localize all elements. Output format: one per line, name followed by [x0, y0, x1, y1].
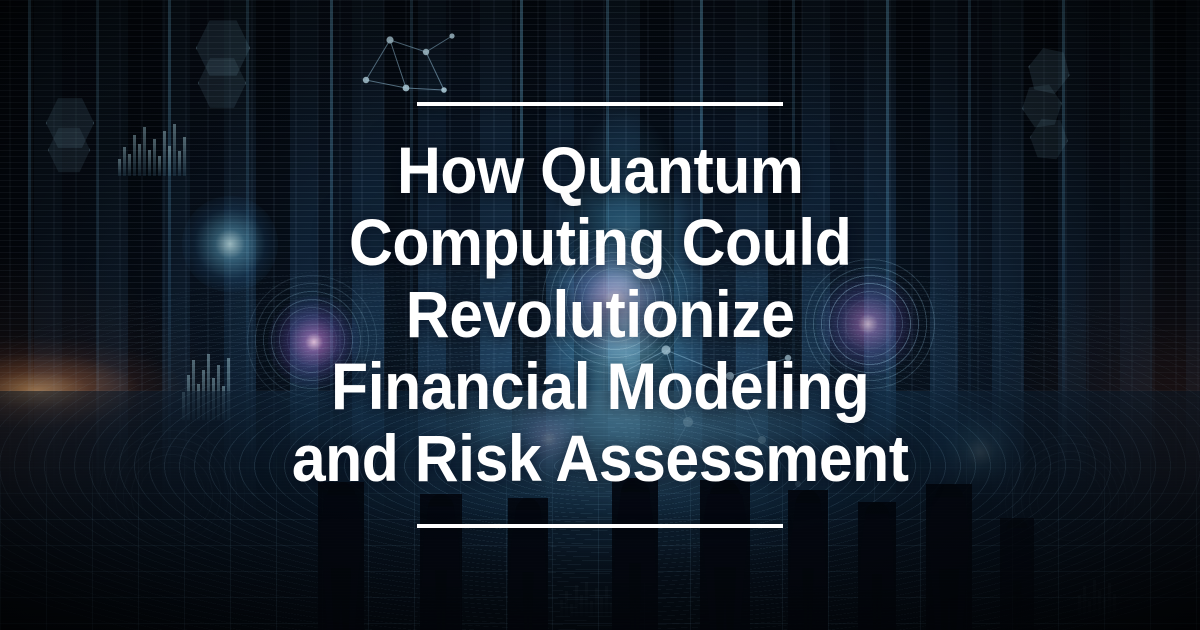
page-title-line: How Quantum — [292, 134, 909, 206]
divider-top — [417, 102, 783, 106]
page-title-line: Financial Modeling — [292, 350, 909, 422]
page-title-line: and Risk Assessment — [292, 422, 909, 494]
divider-bottom — [417, 524, 783, 528]
hero-content: How Quantum Computing Could Revolutioniz… — [0, 0, 1200, 630]
page-title: How Quantum Computing Could Revolutioniz… — [292, 134, 909, 494]
page-title-line: Computing Could — [292, 206, 909, 278]
article-hero-banner: How Quantum Computing Could Revolutioniz… — [0, 0, 1200, 630]
page-title-line: Revolutionize — [292, 278, 909, 350]
